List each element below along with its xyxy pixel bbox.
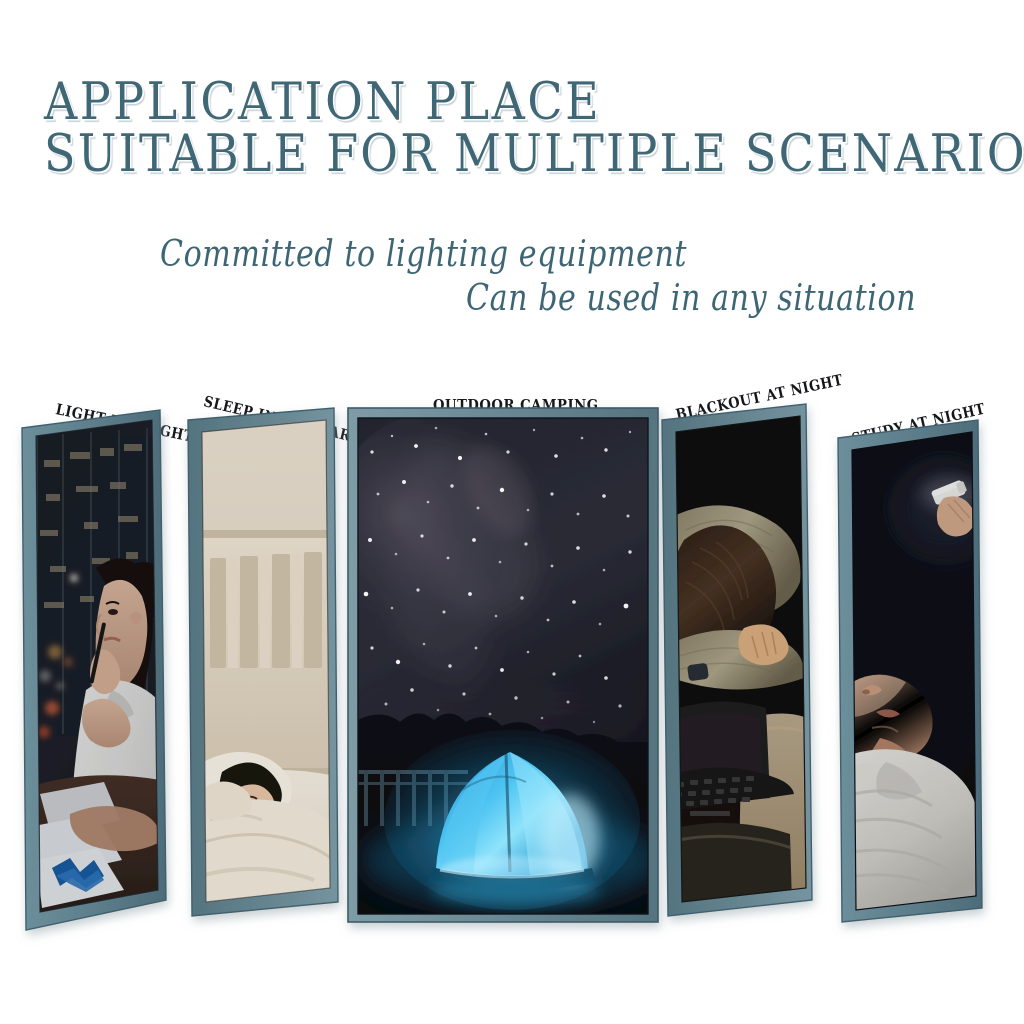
subheading-block: Committed to lighting equipment Can be u… — [0, 228, 1024, 316]
poster-canvas: APPLICATION PLACE SUITABLE FOR MULTIPLE … — [0, 0, 1024, 1024]
panel-blackout-at-night[interactable] — [661, 404, 816, 916]
panel-outdoor-camping[interactable] — [285, 376, 662, 922]
panel-group — [0, 390, 1024, 960]
subheading-line-2: Can be used in any situation — [466, 272, 1007, 324]
heading-block: APPLICATION PLACE SUITABLE FOR MULTIPLE … — [0, 72, 1024, 176]
heading-line-2: SUITABLE FOR MULTIPLE SCENARIOS — [44, 124, 1024, 182]
panel-study-at-night[interactable] — [833, 420, 997, 922]
panel-sleep-in-the-dark[interactable] — [188, 408, 344, 916]
heading-line-1: APPLICATION PLACE — [44, 72, 1024, 130]
panel-light-is-bright[interactable] — [22, 410, 180, 930]
